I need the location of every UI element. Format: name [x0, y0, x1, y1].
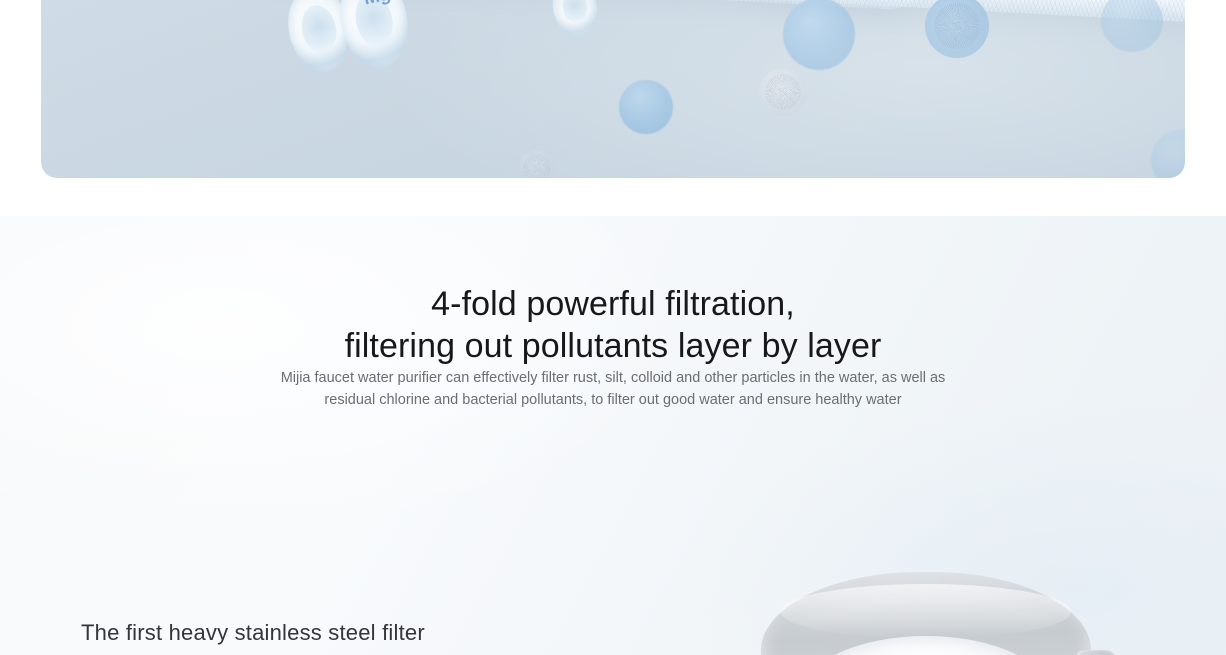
tube-ring-hole-icon [561, 0, 590, 25]
section-headline: 4-fold powerful filtration, filtering ou… [0, 283, 1226, 367]
bacteria-particle-icon [519, 150, 555, 178]
bacteria-spikes-icon [523, 154, 550, 178]
section-subtext: Mijia faucet water purifier can effectiv… [0, 367, 1226, 411]
product-side-tab [1075, 650, 1117, 655]
tube-ring-hole-icon [298, 2, 341, 56]
particle-blob-icon [1101, 0, 1163, 52]
headline-line-1: 4-fold powerful filtration, [0, 283, 1226, 325]
bacteria-spikes-icon [934, 3, 980, 49]
filtration-feature-section: 4-fold powerful filtration, filtering ou… [0, 216, 1226, 655]
hero-image-section: Mg [0, 0, 1226, 216]
product-detail-page: Mg [0, 0, 1226, 655]
filter-cartridges-photo: Mg [41, 0, 1185, 178]
tube-ring-icon [549, 0, 601, 39]
filter-stage-label: The first heavy stainless steel filter [81, 620, 425, 646]
hero-lighting-overlay [41, 0, 1185, 178]
tube-ring-icon [332, 0, 417, 74]
subtext-line-2: residual chlorine and bacterial pollutan… [0, 389, 1226, 411]
particle-blob-icon [783, 0, 855, 70]
subtext-line-1: Mijia faucet water purifier can effectiv… [0, 367, 1226, 389]
particle-blob-icon [619, 80, 673, 134]
particle-blob-icon [1151, 130, 1185, 178]
headline-line-2: filtering out pollutants layer by layer [0, 325, 1226, 367]
bacteria-particle-icon [759, 68, 807, 116]
water-purifier-housing-render [745, 554, 1125, 655]
bacteria-spikes-icon [765, 74, 802, 111]
bacteria-particle-icon [925, 0, 989, 58]
